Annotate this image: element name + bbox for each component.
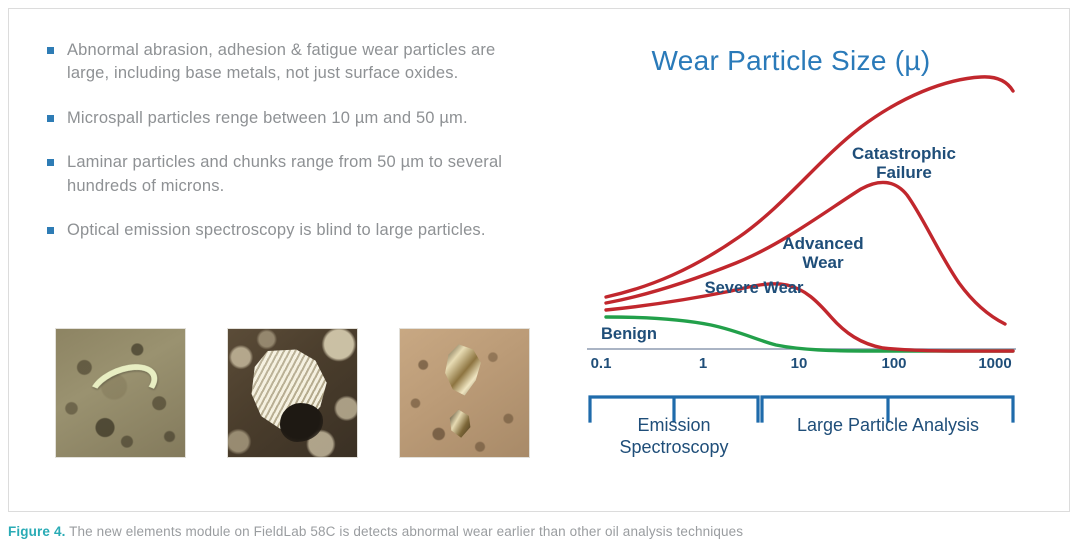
x-tick-1: 1 [699,355,707,372]
figure-caption-text: The new elements module on FieldLab 58C … [65,524,743,539]
x-tick-0: 0.1 [591,355,612,372]
particle-shape-small [448,410,474,438]
bullet-list: Abnormal abrasion, adhesion & fatigue we… [41,39,531,264]
bullet-square-icon [47,159,54,166]
list-item: Optical emission spectroscopy is blind t… [41,219,531,242]
bullet-text: Abnormal abrasion, adhesion & fatigue we… [67,41,495,82]
bullet-text: Optical emission spectroscopy is blind t… [67,221,486,239]
micrograph-abrasive-chunk-particles [399,328,530,458]
particle-shape [82,355,164,420]
x-axis-tick-labels: 0.1 1 10 100 1000 [561,355,1021,377]
x-tick-3: 100 [881,355,906,372]
list-item: Abnormal abrasion, adhesion & fatigue we… [41,39,531,86]
bullet-square-icon [47,227,54,234]
figure-panel: Abnormal abrasion, adhesion & fatigue we… [8,8,1070,512]
bracket-label-large-particle-analysis: Large Particle Analysis [793,415,983,437]
annotation-advanced-wear: Advanced Wear [763,234,883,272]
micrograph-cutting-wear-particle [55,328,186,458]
bullet-square-icon [47,47,54,54]
micrograph-strip [55,328,530,458]
annotation-benign: Benign [601,325,701,343]
figure-number: Figure 4. [8,524,65,539]
bullet-square-icon [47,115,54,122]
x-tick-2: 10 [791,355,808,372]
bullet-text: Laminar particles and chunks range from … [67,153,502,194]
particle-shape-large [443,344,486,395]
particle-shadow [280,403,324,441]
list-item: Laminar particles and chunks range from … [41,151,531,198]
wear-particle-size-chart: Wear Particle Size (µ) Catastrophic Fai [561,29,1061,491]
micrograph-laminar-chunk-particle [227,328,358,458]
x-tick-4: 1000 [978,355,1011,372]
annotation-catastrophic-failure: Catastrophic Failure [839,144,969,182]
annotation-severe-wear: Severe Wear [704,279,804,297]
figure-caption: Figure 4. The new elements module on Fie… [8,524,743,539]
list-item: Microspall particles renge between 10 µm… [41,107,531,130]
figure-root: Abnormal abrasion, adhesion & fatigue we… [0,0,1078,559]
bullet-text: Microspall particles renge between 10 µm… [67,109,468,127]
bracket-label-emission-spectroscopy: Emission Spectroscopy [584,415,764,458]
